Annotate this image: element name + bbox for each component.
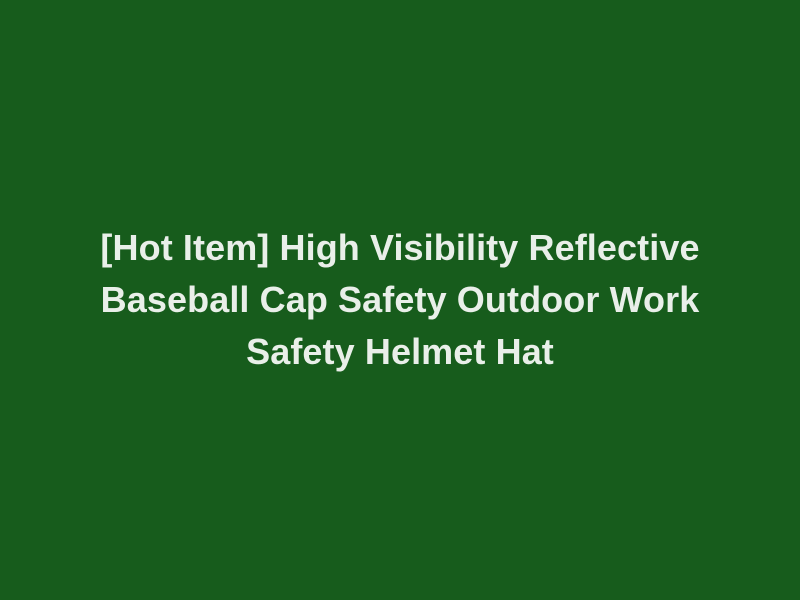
- placeholder-canvas: [Hot Item] High Visibility Reflective Ba…: [0, 0, 800, 600]
- page-title: [Hot Item] High Visibility Reflective Ba…: [60, 222, 740, 378]
- page-title-line-2: Baseball Cap Safety Outdoor Work: [60, 274, 740, 326]
- page-title-line-3: Safety Helmet Hat: [60, 326, 740, 378]
- page-title-line-1: [Hot Item] High Visibility Reflective: [60, 222, 740, 274]
